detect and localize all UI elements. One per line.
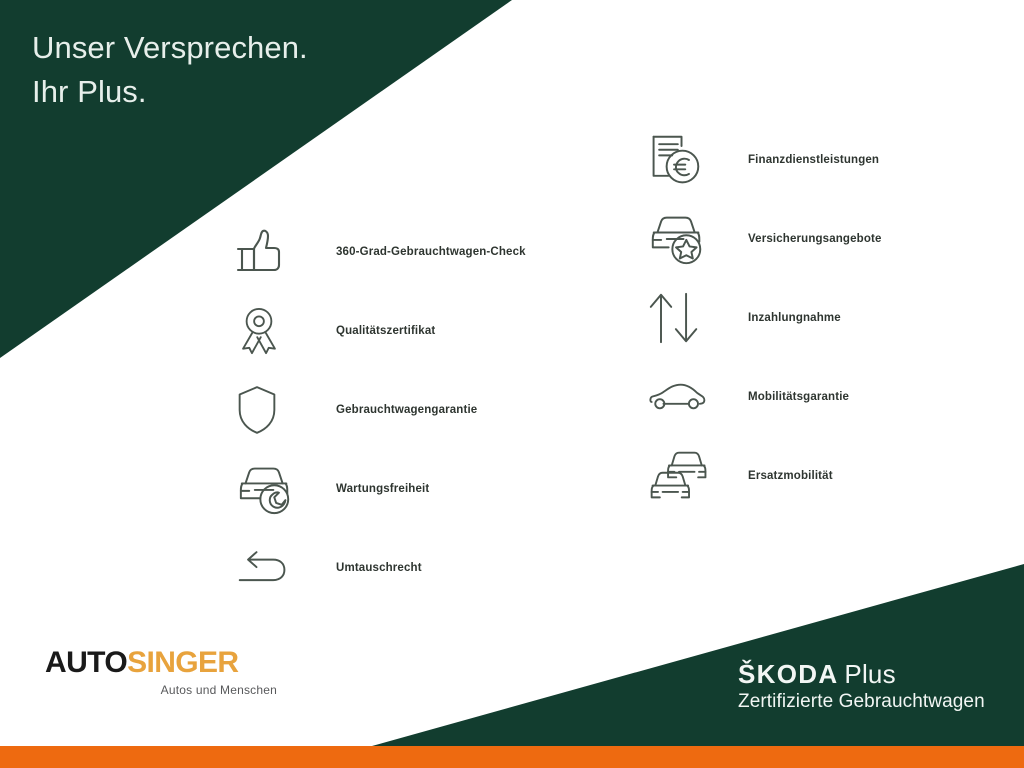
dealer-logo: AUTOSINGER Autos und Menschen <box>45 648 277 697</box>
feature-item: Umtauschrecht <box>236 528 616 607</box>
return-arrow-icon <box>236 539 300 597</box>
feature-item: Gebrauchtwagengarantie <box>236 370 616 449</box>
feature-label: Inzahlungnahme <box>712 312 841 324</box>
feature-item: Finanzdienstleistungen <box>648 120 1018 199</box>
feature-label: Wartungsfreiheit <box>300 483 429 495</box>
brand-subtitle: Zertifizierte Gebrauchtwagen <box>738 691 985 713</box>
feature-list-left: 360-Grad-Gebrauchtwagen-Check Qualitätsz… <box>236 212 616 607</box>
two-cars-icon <box>648 447 712 505</box>
promo-banner: Unser Versprechen. Ihr Plus. 360-Grad-Ge… <box>0 0 1024 768</box>
feature-label: Gebrauchtwagengarantie <box>300 404 477 416</box>
car-side-icon <box>648 368 712 426</box>
feature-item: Mobilitätsgarantie <box>648 357 1018 436</box>
feature-label: Mobilitätsgarantie <box>712 391 849 403</box>
up-down-arrows-icon <box>648 289 712 347</box>
feature-item: Wartungsfreiheit <box>236 449 616 528</box>
brand-logo: ŠKODAPlus Zertifizierte Gebrauchtwagen <box>738 660 985 713</box>
dealer-wordmark: AUTOSINGER <box>45 648 277 678</box>
car-wrench-icon <box>236 460 300 518</box>
brand-wordmark: ŠKODA <box>738 659 838 689</box>
feature-label: Umtauschrecht <box>300 562 422 574</box>
feature-label: Finanzdienstleistungen <box>712 154 879 166</box>
brand-logo-line-1: ŠKODAPlus <box>738 660 985 689</box>
feature-list-right: Finanzdienstleistungen Versicherungsange… <box>648 120 1018 515</box>
orange-accent-bar <box>0 746 1024 768</box>
award-rosette-icon <box>236 302 300 360</box>
dealer-tagline: Autos und Menschen <box>45 683 277 697</box>
feature-item: Qualitätszertifikat <box>236 291 616 370</box>
shield-icon <box>236 381 300 439</box>
feature-label: 360-Grad-Gebrauchtwagen-Check <box>300 246 526 258</box>
dealer-wordmark-part-auto: AUTO <box>45 646 127 679</box>
thumbs-up-icon <box>236 223 300 281</box>
brand-suffix: Plus <box>844 659 895 689</box>
car-star-icon <box>648 210 712 268</box>
feature-item: Ersatzmobilität <box>648 436 1018 515</box>
feature-item: Inzahlungnahme <box>648 278 1018 357</box>
document-euro-icon <box>648 131 712 189</box>
feature-item: 360-Grad-Gebrauchtwagen-Check <box>236 212 616 291</box>
feature-item: Versicherungsangebote <box>648 199 1018 278</box>
page-title: Unser Versprechen. Ihr Plus. <box>32 26 308 114</box>
feature-label: Ersatzmobilität <box>712 470 833 482</box>
feature-label: Versicherungsangebote <box>712 233 882 245</box>
dealer-wordmark-part-singer: SINGER <box>127 646 238 679</box>
feature-label: Qualitätszertifikat <box>300 325 435 337</box>
